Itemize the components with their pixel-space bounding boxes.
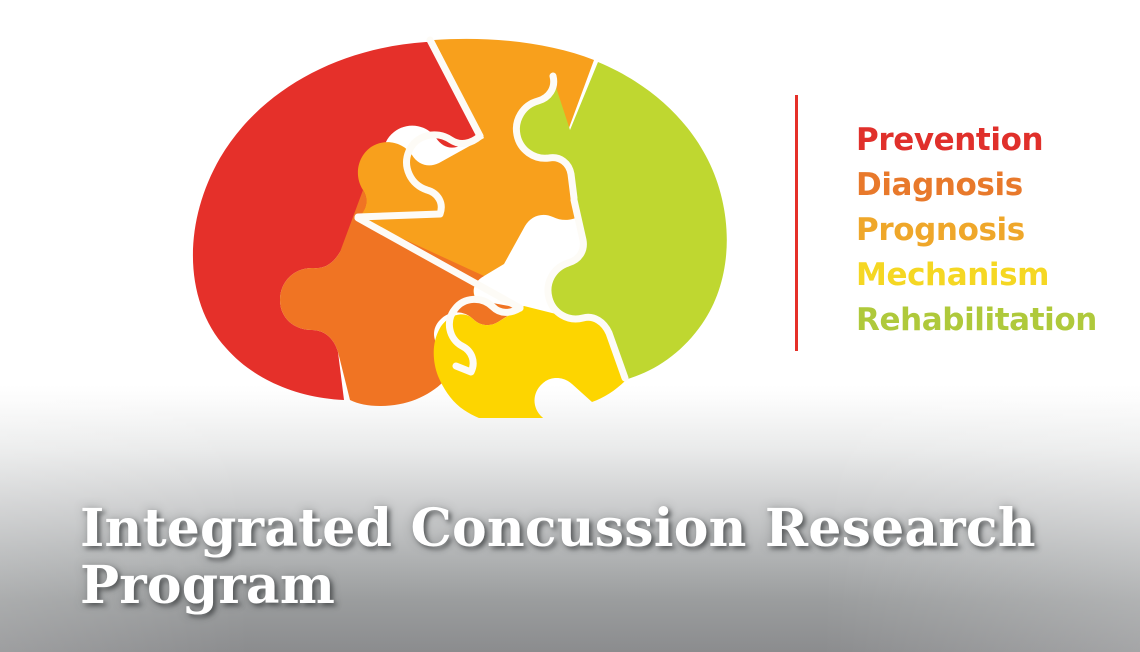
vertical-divider [795,95,798,351]
banner-canvas: Prevention Diagnosis Prognosis Mechanism… [0,0,1140,652]
keyword-list: Prevention Diagnosis Prognosis Mechanism… [856,118,1126,343]
keyword-mechanism: Mechanism [856,253,1126,298]
keyword-diagnosis: Diagnosis [856,163,1126,208]
keyword-prognosis: Prognosis [856,208,1126,253]
page-title: Integrated Concussion Research Program [80,500,1080,614]
keyword-rehabilitation: Rehabilitation [856,298,1126,343]
page-title-line-2: Program [80,557,1080,614]
brain-puzzle-logo [168,18,768,418]
keyword-prevention: Prevention [856,118,1126,163]
page-title-line-1: Integrated Concussion Research [80,500,1080,557]
